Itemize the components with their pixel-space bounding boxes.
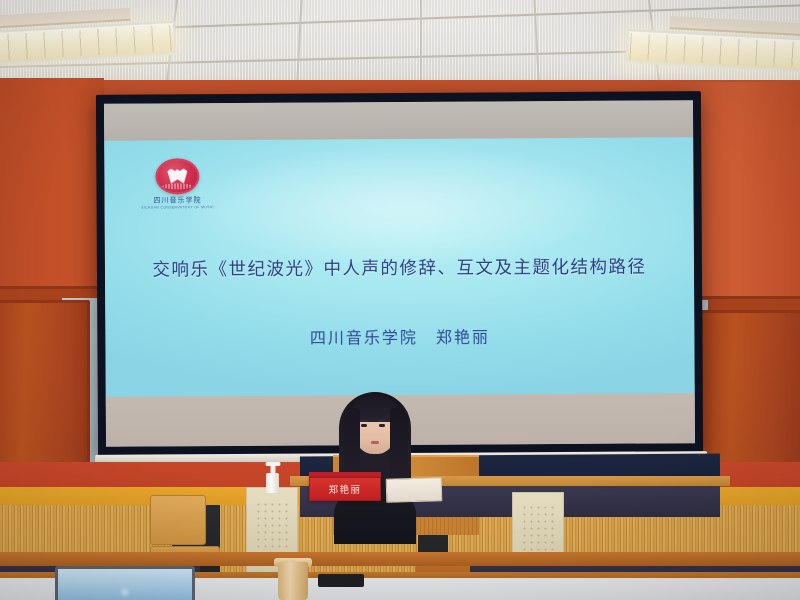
speaker-nameplate: 郑艳丽 [309, 477, 381, 501]
audience-bench-top [0, 552, 800, 566]
presenter-eyebrow [360, 420, 368, 422]
lecture-hall-photo: 四川音乐学院 SICHUAN CONSERVATORY OF MUSIC 交响乐… [0, 0, 800, 600]
presentation-slide: 四川音乐学院 SICHUAN CONSERVATORY OF MUSIC 交响乐… [104, 137, 695, 407]
institution-logo: 四川音乐学院 SICHUAN CONSERVATORY OF MUSIC [140, 158, 214, 210]
slide-title: 交响乐《世纪波光》中人声的修辞、互文及主题化结构路径 [105, 253, 694, 282]
document-stack[interactable] [386, 477, 443, 502]
logo-institution-name-en: SICHUAN CONSERVATORY OF MUSIC [141, 206, 215, 210]
logo-institution-name-cn: 四川音乐学院 [141, 197, 215, 205]
nameplate-text: 郑艳丽 [328, 482, 361, 496]
presenter-mouth [371, 441, 379, 444]
conservatory-emblem-icon [155, 158, 199, 194]
presenter [334, 388, 416, 538]
slide-subtitle: 四川音乐学院 郑艳丽 [105, 322, 694, 350]
paper-cup[interactable] [278, 562, 308, 600]
presenter-eye [379, 424, 385, 427]
screen-letterbox-top [104, 100, 693, 141]
projector-glow [175, 143, 623, 268]
laptop[interactable] [55, 566, 195, 600]
presenter-eyebrow [378, 420, 386, 422]
presenter-eye [361, 424, 367, 427]
presentation-remote[interactable] [318, 574, 364, 587]
hand-sanitizer-bottle[interactable] [266, 473, 279, 493]
wooden-chair-back[interactable] [150, 495, 206, 545]
